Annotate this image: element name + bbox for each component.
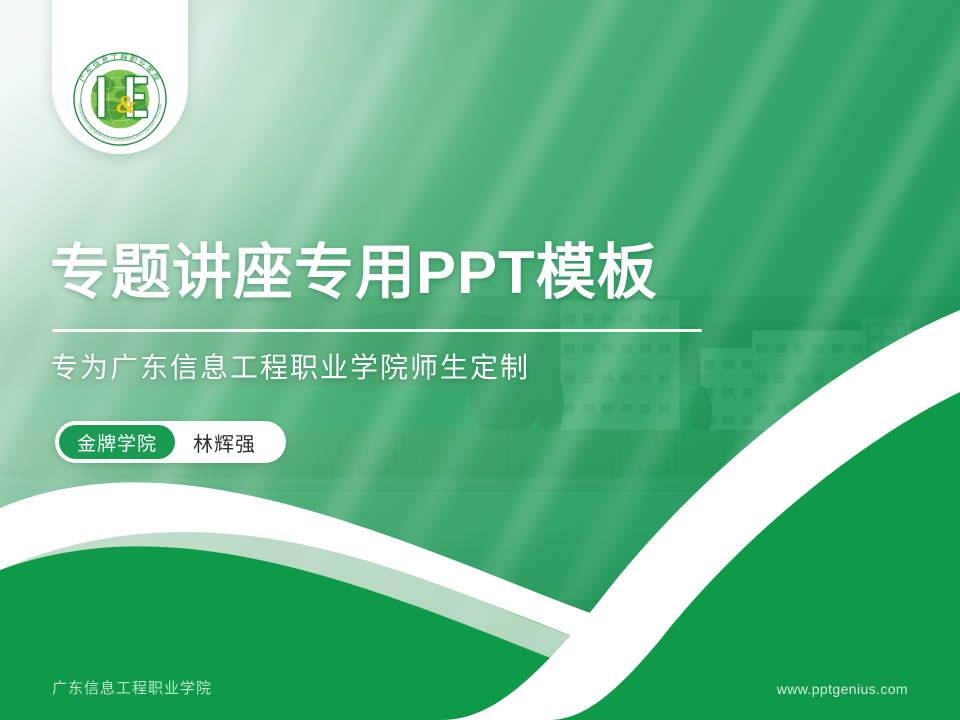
badge-tag-label: 金牌学院	[59, 425, 175, 459]
credit-badge: 金牌学院 林辉强	[55, 421, 286, 463]
footer-school-name: 广东信息工程职业学院	[52, 677, 212, 698]
title-divider	[52, 329, 702, 332]
ppt-title-slide: & 广东信息工程职业学院 GUANGDONG INFORMATION ENGIN…	[0, 0, 960, 720]
footer-website[interactable]: www.pptgenius.com	[777, 681, 908, 697]
school-emblem-logo: & 广东信息工程职业学院 GUANGDONG INFORMATION ENGIN…	[71, 50, 169, 148]
badge-author-name: 林辉强	[175, 428, 282, 457]
logo-plaque: & 广东信息工程职业学院 GUANGDONG INFORMATION ENGIN…	[52, 0, 188, 154]
page-subtitle: 专为广东信息工程职业学院师生定制	[50, 350, 530, 386]
page-title: 专题讲座专用PPT模板	[50, 243, 658, 303]
logo-ampersand: &	[116, 90, 136, 119]
